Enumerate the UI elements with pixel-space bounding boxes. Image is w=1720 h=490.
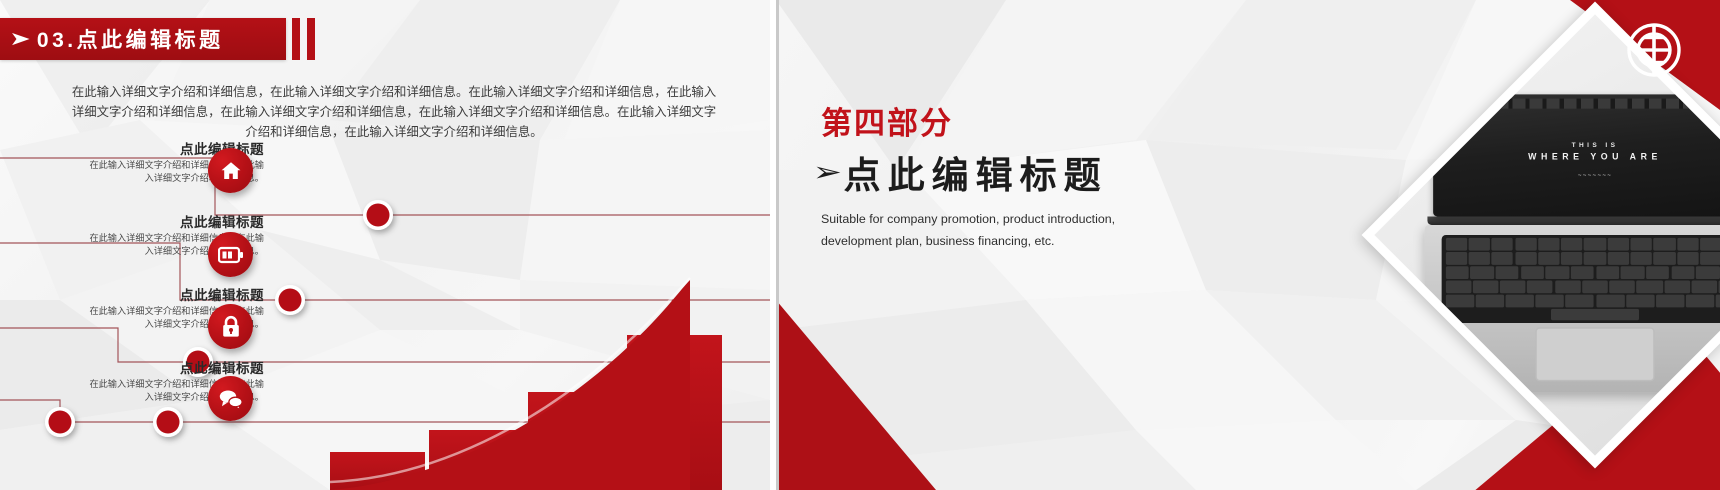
chevron-right-icon: ➢ bbox=[813, 157, 842, 188]
section-title-row: ➢ 点此编辑标题 bbox=[816, 145, 1108, 199]
laptop-screen: THIS IS WHERE YOU ARE ~~~~~~~ bbox=[1433, 95, 1720, 217]
laptop-device: THIS IS WHERE YOU ARE ~~~~~~~ bbox=[1425, 95, 1720, 393]
chat-bubbles-icon-bubble[interactable] bbox=[208, 376, 253, 421]
subtitle-line-1: Suitable for company promotion, product … bbox=[821, 208, 1171, 230]
home-icon bbox=[219, 159, 243, 183]
laptop-vents bbox=[1444, 99, 1720, 109]
lock-icon-bubble[interactable] bbox=[208, 304, 253, 349]
slide-left: ➤ 03.点此编辑标题 在此输入详细文字介绍和详细信息，在此输入详细文字介绍和详… bbox=[0, 0, 770, 490]
laptop-trackpad bbox=[1535, 328, 1654, 382]
screen-text-line1: THIS IS bbox=[1433, 142, 1720, 149]
arrow-right-icon: ➤ bbox=[9, 30, 30, 49]
screen-text-line2: WHERE YOU ARE bbox=[1433, 153, 1720, 163]
section-number: 第四部分 bbox=[821, 98, 953, 143]
trade-union-emblem-icon bbox=[1626, 22, 1682, 78]
laptop-keyboard bbox=[1442, 235, 1720, 323]
battery-icon-bubble[interactable] bbox=[208, 232, 253, 277]
subtitle-line-2: development plan, business financing, et… bbox=[821, 230, 1171, 252]
accent-bar-1 bbox=[292, 18, 300, 60]
laptop-photo: THIS IS WHERE YOU ARE ~~~~~~~ bbox=[1373, 13, 1720, 456]
section-header-text: 03.点此编辑标题 bbox=[37, 24, 224, 54]
section-header-bar[interactable]: ➤ 03.点此编辑标题 bbox=[0, 18, 286, 60]
list-item-title: 点此编辑标题 bbox=[180, 284, 264, 304]
screen-text-line3: ~~~~~~~ bbox=[1433, 171, 1720, 178]
home-icon-bubble[interactable] bbox=[208, 148, 253, 193]
slide-right-edge bbox=[776, 0, 779, 490]
list-item-title: 点此编辑标题 bbox=[180, 211, 264, 231]
accent-bar-2 bbox=[307, 18, 315, 60]
header-accent-bars bbox=[292, 18, 315, 60]
red-triangle-bottom-left bbox=[776, 300, 936, 490]
section-title: 点此编辑标题 bbox=[844, 145, 1108, 199]
slide-divider bbox=[770, 0, 776, 490]
battery-icon bbox=[218, 245, 244, 265]
chat-bubbles-icon bbox=[218, 388, 244, 410]
section-header-number: 03. bbox=[37, 29, 77, 52]
red-triangle-bottom-right bbox=[1660, 450, 1720, 490]
slide-right: THIS IS WHERE YOU ARE ~~~~~~~ bbox=[776, 0, 1720, 490]
section-header-title: 点此编辑标题 bbox=[77, 29, 224, 52]
laptop-hinge bbox=[1427, 217, 1720, 226]
presentation-stage: ➤ 03.点此编辑标题 在此输入详细文字介绍和详细信息，在此输入详细文字介绍和详… bbox=[0, 0, 1720, 490]
list-item-title: 点此编辑标题 bbox=[180, 357, 264, 377]
lead-paragraph: 在此输入详细文字介绍和详细信息，在此输入详细文字介绍和详细信息。在此输入详细文字… bbox=[70, 82, 718, 142]
lock-icon bbox=[220, 315, 242, 339]
laptop-base bbox=[1425, 225, 1720, 393]
section-subtitle: Suitable for company promotion, product … bbox=[821, 208, 1171, 252]
